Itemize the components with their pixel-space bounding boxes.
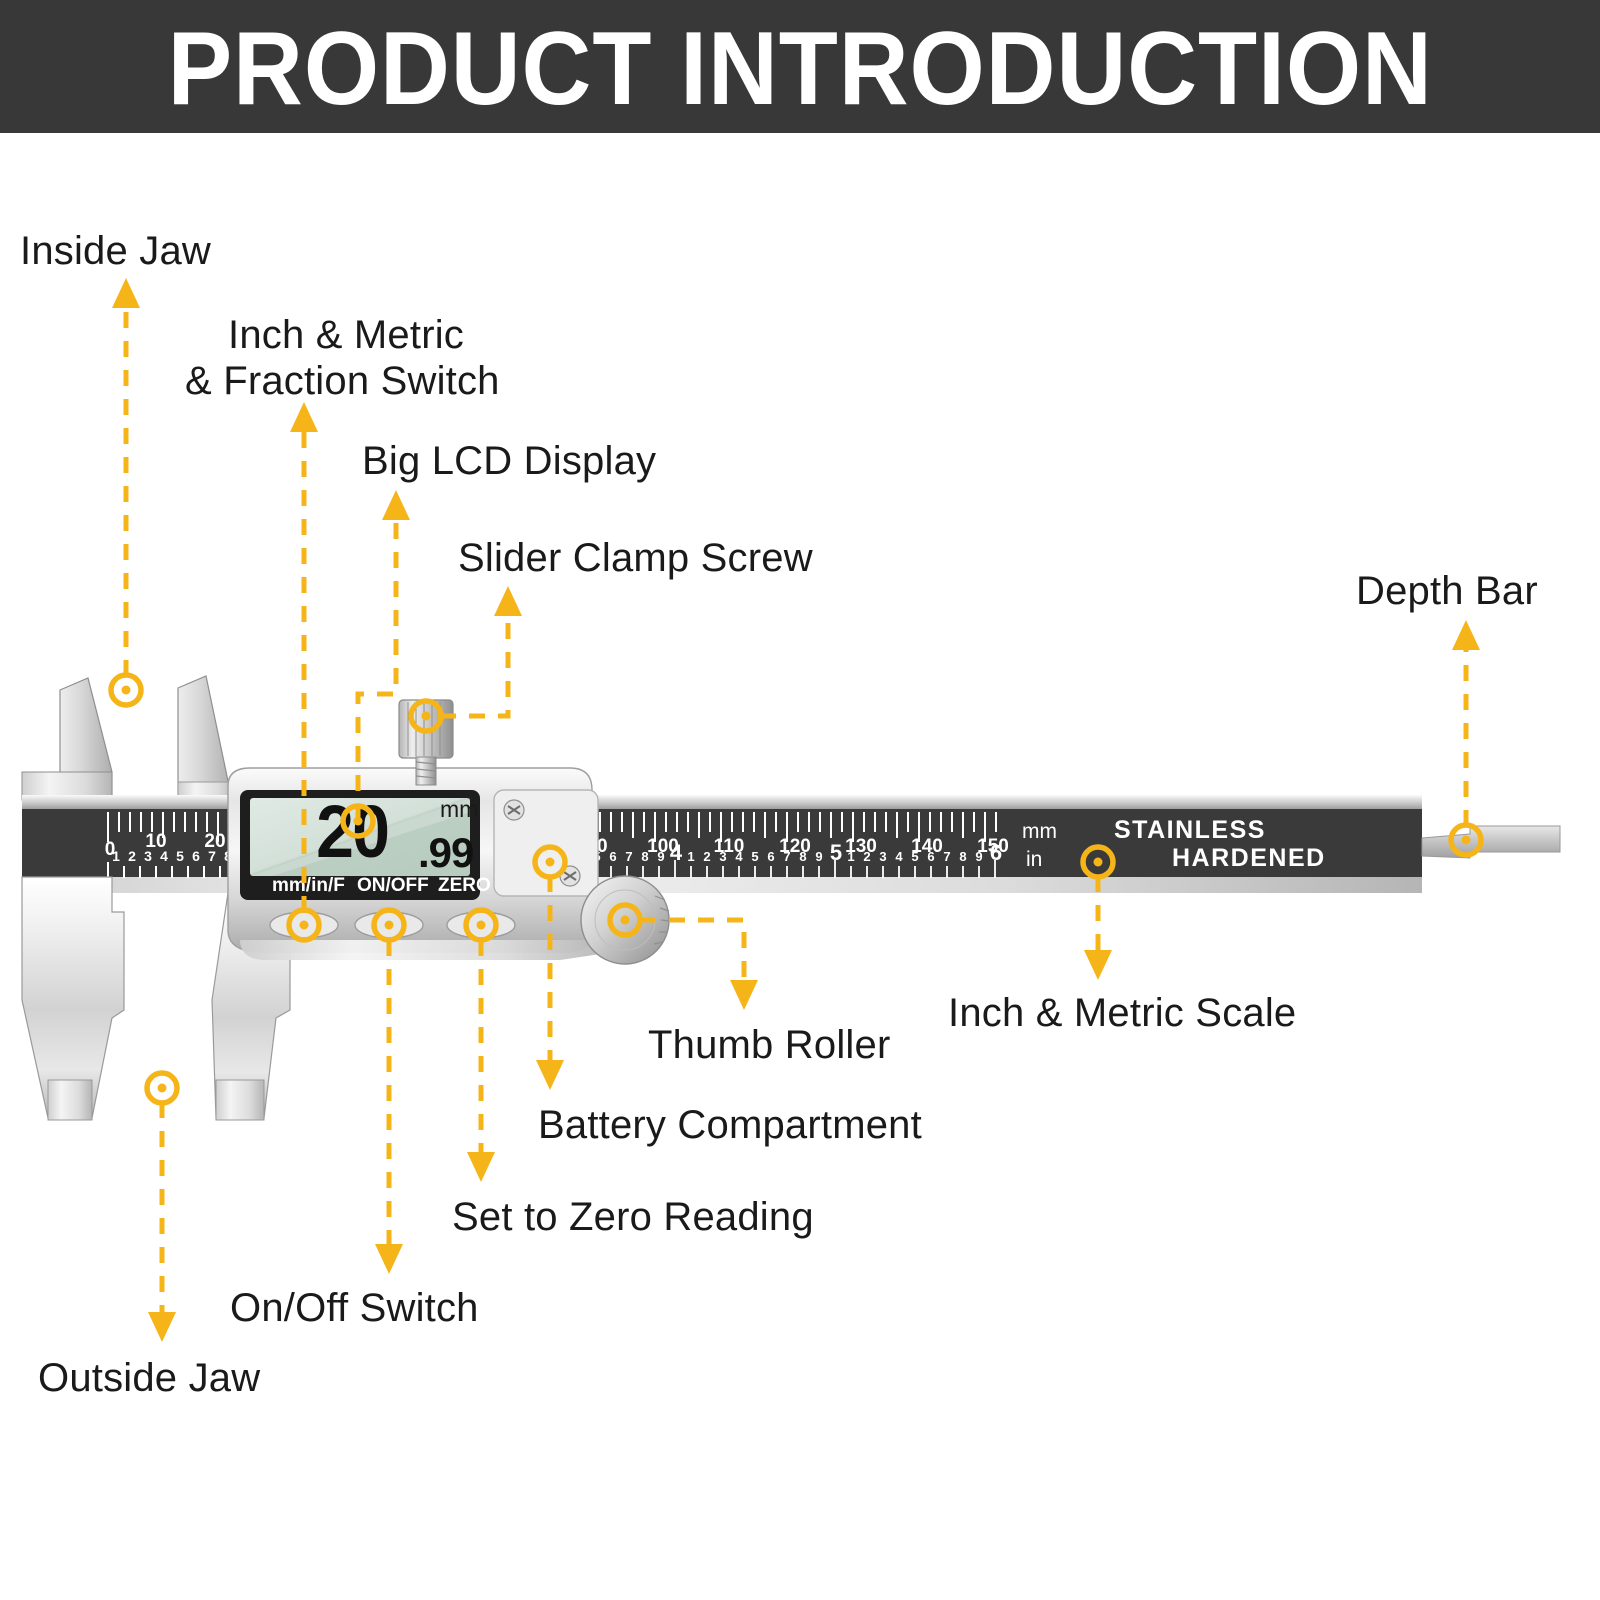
svg-text:2: 2 bbox=[703, 849, 710, 864]
svg-text:STAINLESS: STAINLESS bbox=[1114, 816, 1266, 844]
svg-text:5: 5 bbox=[830, 840, 842, 865]
svg-text:6: 6 bbox=[990, 840, 1002, 865]
svg-text:2: 2 bbox=[863, 849, 870, 864]
callout-zero: Set to Zero Reading bbox=[452, 1194, 814, 1240]
callout-metric-scale: Inch & Metric Scale bbox=[948, 990, 1296, 1036]
callout-battery: Battery Compartment bbox=[538, 1102, 922, 1148]
svg-text:7: 7 bbox=[625, 849, 632, 864]
screw-icon bbox=[560, 866, 580, 886]
svg-text:4: 4 bbox=[670, 840, 683, 865]
button-power[interactable] bbox=[355, 912, 423, 938]
callout-unit-switch-line2: & Fraction Switch bbox=[185, 358, 500, 404]
callout-depth-bar: Depth Bar bbox=[1356, 568, 1538, 614]
svg-text:4: 4 bbox=[160, 848, 168, 864]
svg-text:in: in bbox=[1026, 848, 1042, 871]
svg-text:4: 4 bbox=[895, 849, 903, 864]
svg-text:3: 3 bbox=[719, 849, 726, 864]
svg-text:5: 5 bbox=[176, 848, 184, 864]
inside-jaws bbox=[22, 676, 236, 806]
button-label-power: ON/OFF bbox=[357, 876, 429, 895]
svg-text:8: 8 bbox=[959, 849, 966, 864]
svg-text:mm: mm bbox=[1022, 820, 1057, 843]
svg-text:2: 2 bbox=[128, 848, 136, 864]
callout-onoff: On/Off Switch bbox=[230, 1285, 479, 1331]
svg-text:6: 6 bbox=[927, 849, 934, 864]
svg-text:8: 8 bbox=[799, 849, 806, 864]
svg-text:6: 6 bbox=[767, 849, 774, 864]
thumb-roller[interactable] bbox=[581, 876, 670, 964]
svg-text:5: 5 bbox=[751, 849, 758, 864]
svg-text:7: 7 bbox=[783, 849, 790, 864]
svg-text:1: 1 bbox=[687, 849, 694, 864]
svg-text:4: 4 bbox=[735, 849, 743, 864]
svg-text:HARDENED: HARDENED bbox=[1172, 844, 1326, 872]
callout-lcd: Big LCD Display bbox=[362, 438, 656, 484]
callout-outside-jaw: Outside Jaw bbox=[38, 1355, 260, 1401]
callout-clamp-screw: Slider Clamp Screw bbox=[458, 535, 813, 581]
button-label-zero: ZERO bbox=[438, 876, 491, 895]
svg-text:9: 9 bbox=[815, 849, 822, 864]
svg-text:1: 1 bbox=[112, 848, 120, 864]
svg-text:6: 6 bbox=[192, 848, 200, 864]
svg-text:3: 3 bbox=[144, 848, 152, 864]
lcd-unit: mm bbox=[440, 798, 478, 821]
svg-text:6: 6 bbox=[609, 849, 616, 864]
depth-bar bbox=[1422, 826, 1560, 858]
button-label-unit: mm/in/F bbox=[272, 876, 345, 895]
callout-inside-jaw: Inside Jaw bbox=[20, 228, 211, 274]
callout-thumb-roller: Thumb Roller bbox=[648, 1022, 890, 1068]
svg-text:7: 7 bbox=[208, 848, 216, 864]
svg-text:3: 3 bbox=[879, 849, 886, 864]
button-zero[interactable] bbox=[447, 912, 515, 938]
battery-compartment[interactable] bbox=[494, 790, 598, 896]
svg-text:7: 7 bbox=[943, 849, 950, 864]
svg-text:8: 8 bbox=[641, 849, 648, 864]
callout-unit-switch-line1: Inch & Metric bbox=[228, 312, 464, 358]
button-unit[interactable] bbox=[270, 912, 338, 938]
svg-text:1: 1 bbox=[847, 849, 854, 864]
svg-text:5: 5 bbox=[911, 849, 918, 864]
lcd-value-main: 20 bbox=[316, 795, 388, 869]
svg-text:9: 9 bbox=[975, 849, 982, 864]
svg-text:9: 9 bbox=[657, 849, 664, 864]
lcd-value-fraction: .99 bbox=[418, 832, 473, 874]
screw-icon bbox=[504, 800, 524, 820]
